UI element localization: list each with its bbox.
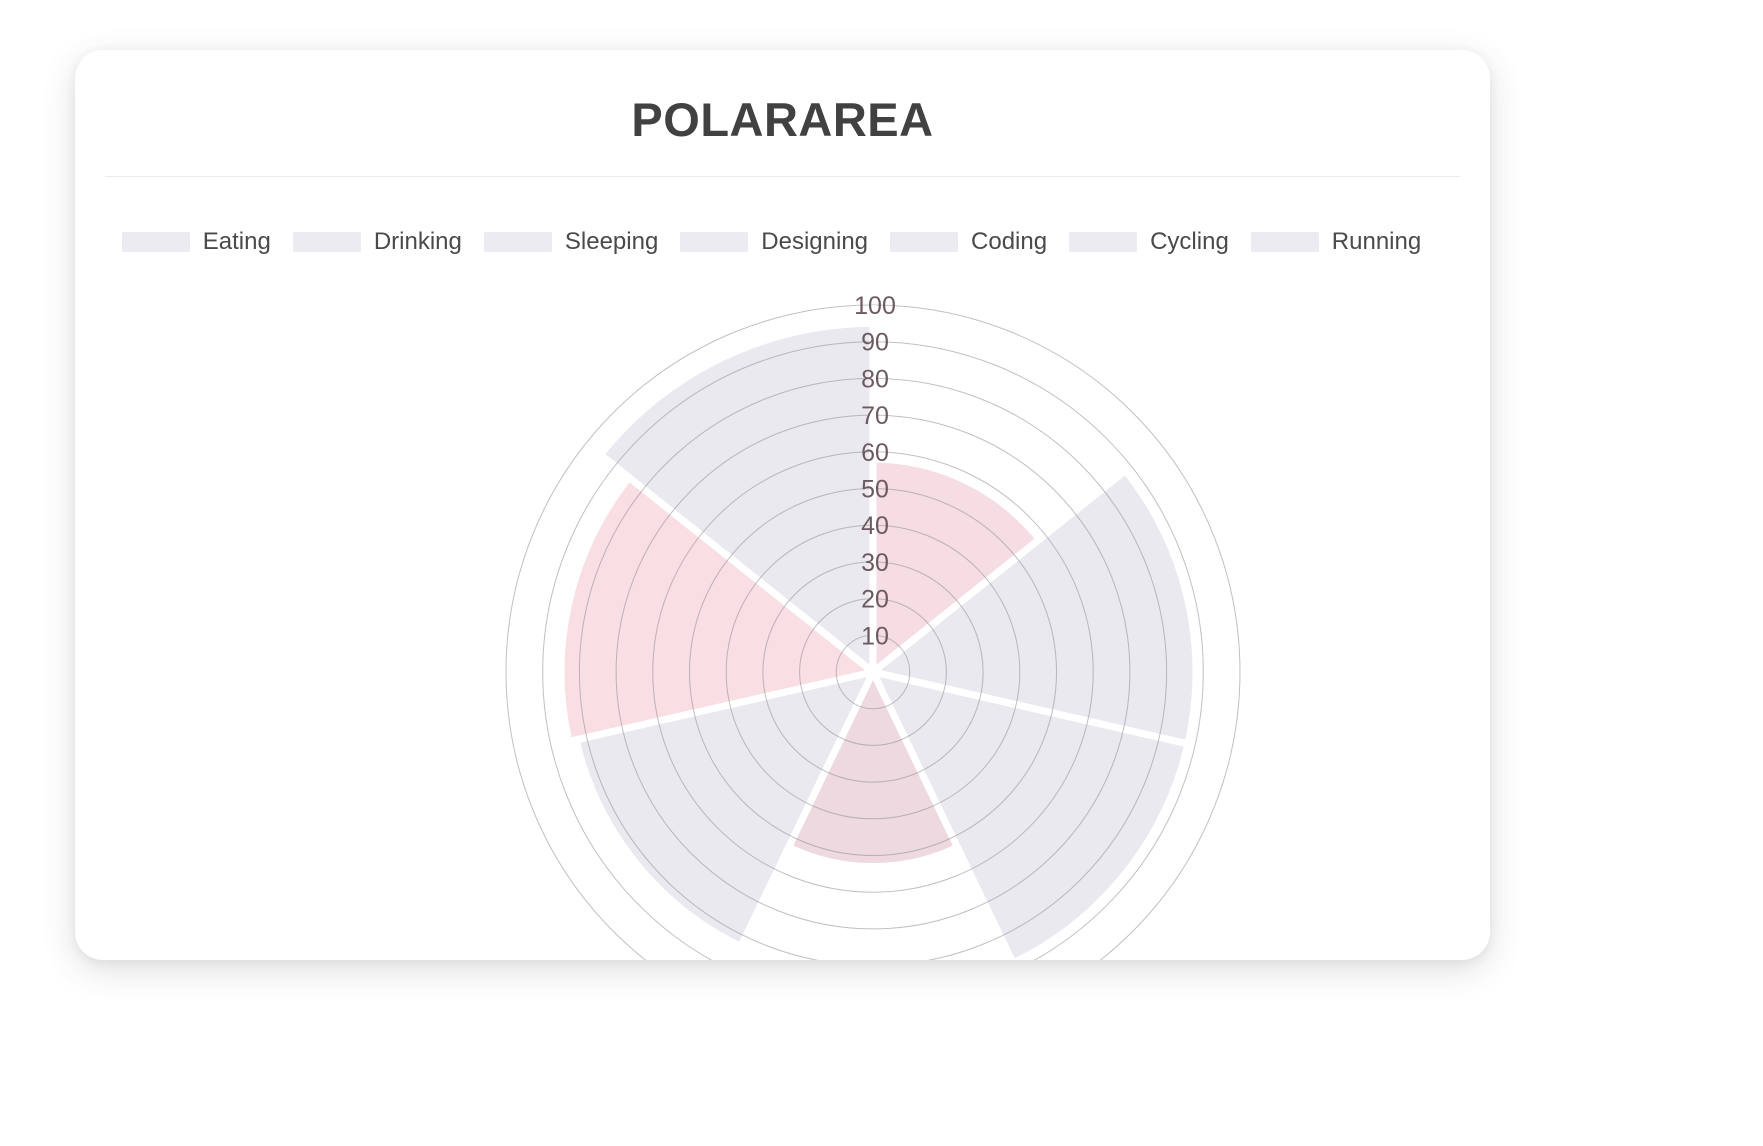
legend-item-coding[interactable]: Coding [890,228,1047,256]
polar-area-chart: 102030405060708090100 [75,50,1490,960]
legend-item-cycling[interactable]: Cycling [1069,228,1229,256]
legend-item-eating[interactable]: Eating [122,228,271,256]
polar-sector-coding[interactable] [576,672,873,946]
polar-sector-eating[interactable] [873,459,1039,672]
chart-card: POLARAREA Eating Drinking Sleeping Desig… [75,50,1490,960]
polar-sector-running[interactable] [600,323,873,672]
legend-item-drinking[interactable]: Drinking [293,228,462,256]
legend-swatch-icon [680,232,748,252]
polar-grid-ring [653,452,1093,892]
polar-grid-ring [800,599,947,746]
legend-item-designing[interactable]: Designing [680,228,868,256]
polar-grid-ring [763,562,983,782]
polar-grid-ring [543,342,1204,960]
chart-legend: Eating Drinking Sleeping Designing Codin… [75,228,1490,256]
radial-tick-label: 50 [861,476,889,504]
radial-tick-label: 20 [861,586,889,614]
radial-tick-label: 10 [861,622,889,650]
polar-sector-drinking[interactable] [873,471,1196,744]
legend-item-label: Coding [971,228,1047,256]
radial-tick-label: 40 [861,512,889,540]
polar-grid-ring [616,415,1130,929]
legend-item-label: Cycling [1150,228,1229,256]
legend-item-label: Sleeping [565,228,658,256]
polar-area-svg: 102030405060708090100 [75,50,1490,960]
radial-tick-label: 30 [861,549,889,577]
title-divider [105,176,1460,177]
radial-tick-label: 90 [861,329,889,357]
radial-tick-label: 60 [861,439,889,467]
polar-grid-ring [579,378,1166,960]
polar-grid-ring [726,525,1020,819]
legend-swatch-icon [1251,232,1319,252]
legend-swatch-icon [890,232,958,252]
legend-item-label: Designing [761,228,868,256]
legend-swatch-icon [293,232,361,252]
legend-swatch-icon [484,232,552,252]
screenshot-root: POLARAREA Eating Drinking Sleeping Desig… [0,0,1763,1146]
radial-tick-label: 70 [861,402,889,430]
polar-grid-ring [690,489,1057,856]
legend-item-sleeping[interactable]: Sleeping [484,228,658,256]
legend-swatch-icon [122,232,190,252]
polar-sector-cycling[interactable] [561,478,873,742]
legend-item-running[interactable]: Running [1251,228,1421,256]
legend-item-label: Eating [203,228,271,256]
polar-sector-designing[interactable] [789,672,958,867]
radial-tick-label: 100 [854,292,896,320]
polar-sector-sleeping[interactable] [873,672,1188,960]
page-title: POLARAREA [75,92,1490,147]
legend-item-label: Running [1332,228,1421,256]
polar-grid-ring [506,305,1240,960]
legend-swatch-icon [1069,232,1137,252]
legend-item-label: Drinking [374,228,462,256]
polar-grid-ring [836,635,909,708]
radial-tick-label: 80 [861,365,889,393]
